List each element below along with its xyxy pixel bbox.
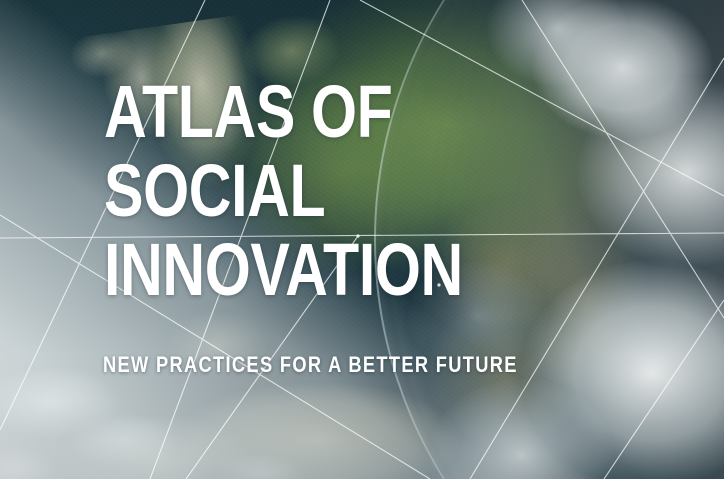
title-line-3: INNOVATION bbox=[104, 230, 536, 309]
network-line-7 bbox=[604, 300, 724, 479]
cover-subtitle: NEW PRACTICES FOR A BETTER FUTURE bbox=[103, 352, 518, 378]
book-cover: ATLAS OF SOCIAL INNOVATION NEW PRACTICES… bbox=[0, 0, 724, 479]
title-line-2: SOCIAL bbox=[104, 151, 536, 230]
cover-title: ATLAS OF SOCIAL INNOVATION bbox=[104, 72, 644, 309]
title-line-1: ATLAS OF bbox=[104, 72, 536, 151]
